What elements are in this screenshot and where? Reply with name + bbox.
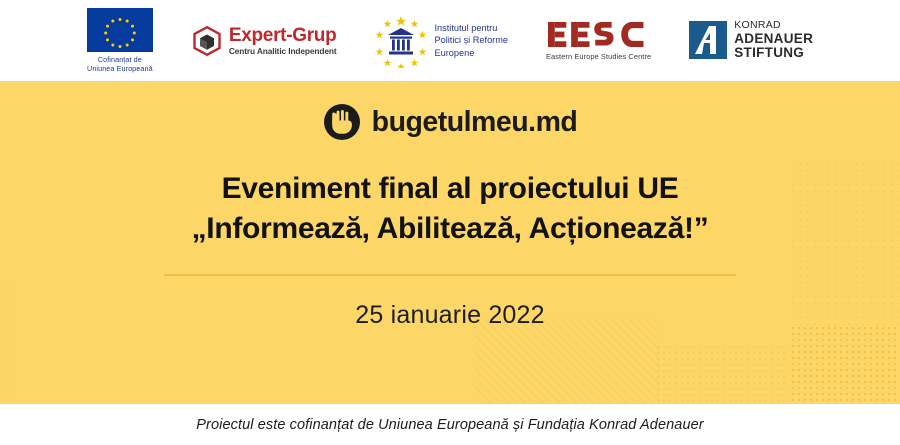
logo-expert-grup: Expert-Grup Centru Analitic Independent	[191, 25, 337, 57]
partner-logo-bar: Cofinanțat de Uniunea Europeană Expert-G…	[0, 0, 900, 81]
kas-line-1: KONRAD	[734, 20, 813, 31]
event-date: 25 ianuarie 2022	[355, 301, 544, 330]
event-title-line-1: Eveniment final al proiectului UE	[192, 169, 709, 209]
logo-ipre: Institutul pentru Politici și Reforme Eu…	[374, 14, 508, 68]
event-title-line-2: „Informează, Abilitează, Acționează!”	[192, 209, 709, 249]
event-banner: bugetulmeu.md Eveniment final al proiect…	[0, 81, 900, 404]
ipre-line-2: Politici și Reforme	[434, 34, 508, 46]
ipre-text: Institutul pentru Politici și Reforme Eu…	[434, 22, 508, 59]
title-divider	[164, 274, 736, 276]
kas-line-2: ADENAUER	[734, 32, 813, 46]
eu-flag-icon	[87, 8, 153, 52]
kas-a-mark-icon	[689, 21, 727, 59]
ipre-building-stars-icon	[374, 14, 428, 68]
footer: Proiectul este cofinanțat de Uniunea Eur…	[0, 404, 900, 445]
logo-european-union: Cofinanțat de Uniunea Europeană	[87, 8, 153, 74]
kas-text: KONRAD ADENAUER STIFTUNG	[734, 20, 813, 60]
event-title: Eveniment final al proiectului UE „Infor…	[192, 169, 709, 248]
eesc-subtitle: Eastern Europe Studies Centre	[546, 52, 651, 61]
expert-grup-text: Expert-Grup Centru Analitic Independent	[229, 26, 337, 56]
logo-eesc: Eastern Europe Studies Centre	[546, 21, 651, 61]
brand-name: bugetulmeu.md	[372, 108, 578, 137]
expert-grup-title: Expert-Grup	[229, 26, 337, 45]
bugetulmeu-brand: bugetulmeu.md	[323, 103, 578, 141]
eu-stars-icon	[87, 8, 153, 52]
kas-line-3: STIFTUNG	[734, 46, 813, 60]
logo-konrad-adenauer-stiftung: KONRAD ADENAUER STIFTUNG	[689, 20, 813, 60]
ipre-line-1: Institutul pentru	[434, 22, 508, 34]
eu-caption-line-1: Cofinanțat de	[87, 55, 153, 65]
ipre-line-3: Europene	[434, 47, 508, 59]
hand-palm-icon	[323, 103, 361, 141]
expert-grup-cube-icon	[191, 25, 223, 57]
eesc-wordmark-icon	[548, 21, 648, 48]
eu-caption-line-2: Uniunea Europeană	[87, 64, 153, 74]
expert-grup-subtitle: Centru Analitic Independent	[229, 47, 337, 55]
eu-caption: Cofinanțat de Uniunea Europeană	[87, 55, 153, 74]
footer-funding-note: Proiectul este cofinanțat de Uniunea Eur…	[196, 417, 703, 433]
